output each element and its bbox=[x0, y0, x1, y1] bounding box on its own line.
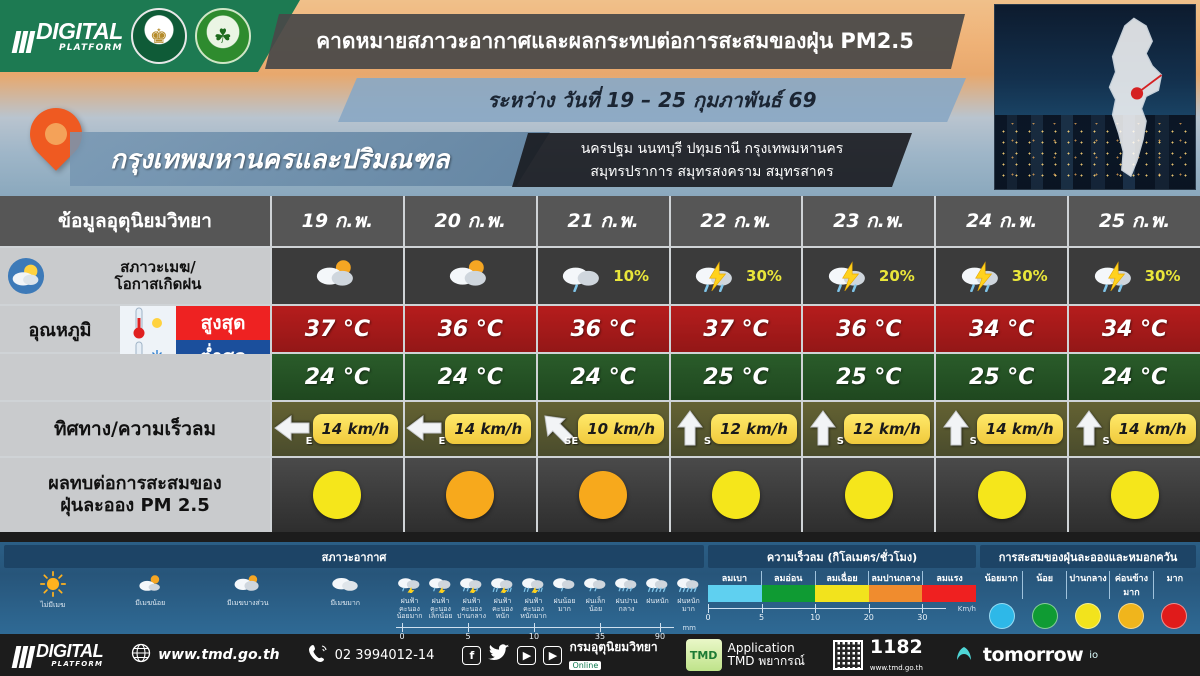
wind-direction-arrow-icon: E bbox=[277, 409, 311, 449]
pm-legend-name: ปานกลาง bbox=[1067, 571, 1110, 599]
sky-label-line2: โอกาสเกิดฝน bbox=[115, 275, 202, 293]
wind-direction-label: S bbox=[704, 436, 711, 447]
temp-max-cells: 37 °C36 °C36 °C37 °C36 °C34 °C34 °C bbox=[270, 306, 1200, 352]
region-banner: กรุงเทพมหานครและปริมณฑล bbox=[70, 132, 550, 186]
rain-heavy-icon bbox=[643, 571, 673, 597]
temp-min-value: 25 °C bbox=[703, 365, 768, 390]
wind-legend-title: ความเร็วลม (กิโลเมตร/ชั่วโมง) bbox=[708, 545, 976, 568]
footer-logo-bars-icon bbox=[14, 646, 33, 668]
sky-cell: 30% bbox=[934, 248, 1067, 304]
rain-legend-items: ฝนฟ้าคะนองน้อยมากฝนฟ้าคะนองเล็กน้อยฝนฟ้า… bbox=[394, 571, 704, 621]
wind-speed-value: 10 km/h bbox=[578, 414, 664, 444]
footer-website[interactable]: www.tmd.go.th bbox=[117, 634, 293, 676]
pm-level-dot bbox=[1111, 471, 1159, 519]
pm-label-line1: ผลทบต่อการสะสมของ bbox=[48, 473, 221, 494]
wind-cell: S14 km/h bbox=[1067, 402, 1200, 456]
wind-cell: E14 km/h bbox=[270, 402, 403, 456]
pm-cell bbox=[270, 458, 403, 532]
infographic-page: DIGITAL PLATFORM ♚ ☘ คาดหมายสภาวะอากาศแล… bbox=[0, 0, 1200, 676]
temp-min-cell: 24 °C bbox=[403, 354, 536, 400]
pm-legend-name: น้อยมาก bbox=[980, 571, 1023, 599]
pm-legend-name: ค่อนข้างมาก bbox=[1110, 571, 1153, 599]
legend-cloud-label: มีเมฆมาก bbox=[330, 600, 360, 608]
temp-max-value: 36 °C bbox=[570, 317, 635, 342]
footer-brand-name: DIGITAL bbox=[36, 642, 103, 660]
sky-cell: 30% bbox=[1067, 248, 1200, 304]
header-brand-band: DIGITAL PLATFORM ♚ ☘ bbox=[0, 0, 300, 72]
day-label: 22 ก.พ. bbox=[700, 206, 772, 236]
partly-cloudy-sun-icon bbox=[311, 256, 363, 296]
temp-max-cell: 36 °C bbox=[403, 306, 536, 352]
temp-max-row: อุณหภูมิ สูงสุด ต่ำสุด bbox=[0, 306, 1200, 354]
day-label: 20 ก.พ. bbox=[435, 206, 507, 236]
wind-scale-value: 10 bbox=[810, 613, 820, 622]
legend-cloud-item: มีเมฆมาก bbox=[297, 571, 395, 610]
wind-legend-name: ลมแรง bbox=[923, 571, 976, 585]
title-banner: คาดหมายสภาวะอากาศและผลกระทบต่อการสะสมของ… bbox=[265, 14, 965, 69]
wind-direction-label: E bbox=[306, 436, 313, 447]
wind-row-label: ทิศทาง/ความเร็วลม bbox=[54, 414, 216, 444]
social-play-icon[interactable]: ▶ bbox=[543, 646, 562, 665]
sky-cell bbox=[403, 248, 536, 304]
thunderstorm-icon bbox=[823, 256, 875, 296]
wind-direction-arrow-icon: S bbox=[941, 409, 975, 449]
weather-legend-title: สภาวะอากาศ bbox=[4, 545, 704, 568]
pm-cells bbox=[270, 458, 1200, 532]
legend-rain-item: ฝนเล็กน้อย bbox=[580, 571, 611, 621]
rain-probability: 30% bbox=[1012, 267, 1048, 285]
temp-min-cell: 25 °C bbox=[669, 354, 802, 400]
region-name: กรุงเทพมหานครและปริมณฑล bbox=[110, 139, 449, 180]
day-header-cells: 19 ก.พ.20 ก.พ.21 ก.พ.22 ก.พ.23 ก.พ.24 ก.… bbox=[270, 196, 1200, 246]
pm-legend-title: การสะสมของฝุ่นละอองและหมอกควัน bbox=[980, 545, 1196, 568]
storm-light2-icon bbox=[426, 571, 456, 597]
pm-legend-dot-wrap bbox=[1153, 603, 1196, 629]
temp-min-cell: 24 °C bbox=[536, 354, 669, 400]
wind-legend-name: ลมเบา bbox=[708, 571, 762, 585]
partly-cloudy-icon bbox=[231, 571, 265, 599]
legend-storm-item: ฝนฟ้าคะนองน้อยมาก bbox=[394, 571, 425, 621]
app-line-2: TMD พยากรณ์ bbox=[728, 654, 805, 668]
wind-legend-swatch bbox=[815, 585, 869, 602]
pm-legend-dot bbox=[1161, 603, 1187, 629]
pm-level-dot bbox=[712, 471, 760, 519]
wind-cell: SE10 km/h bbox=[536, 402, 669, 456]
forecast-table: ข้อมูลอุตุนิยมวิทยา 19 ก.พ.20 ก.พ.21 ก.พ… bbox=[0, 196, 1200, 542]
wind-cell: S12 km/h bbox=[669, 402, 802, 456]
footer-brand-sub: PLATFORM bbox=[36, 661, 103, 668]
wind-scale-value: 30 bbox=[917, 613, 927, 622]
temp-max-value: 36 °C bbox=[836, 317, 901, 342]
temp-label: อุณหภูมิ bbox=[0, 306, 120, 352]
temp-max-swatch: สูงสุด bbox=[120, 306, 270, 340]
temp-max-value: 37 °C bbox=[305, 317, 370, 342]
social-label: กรมอุตุนิยมวิทยา bbox=[569, 640, 657, 654]
rain-probability: 30% bbox=[746, 267, 782, 285]
pm-legend-dot-wrap bbox=[980, 603, 1023, 629]
wind-scale-value: 0 bbox=[705, 613, 710, 622]
wind-direction-label: S bbox=[837, 436, 844, 447]
wind-legend-names: ลมเบาลมอ่อนลมเฉื่อยลมปานกลางลมแรง bbox=[708, 571, 976, 585]
legend-cloud-item: มีเมฆบางส่วน bbox=[199, 571, 297, 610]
temp-max-value: 36 °C bbox=[438, 317, 503, 342]
tmd-app-icon: TMD bbox=[686, 639, 722, 671]
tomorrow-logo-icon bbox=[951, 640, 977, 670]
sky-cell: 20% bbox=[801, 248, 934, 304]
footer-phone: 02 3994012-14 bbox=[294, 634, 449, 676]
rain-probability: 30% bbox=[1145, 267, 1181, 285]
pm-level-dot bbox=[845, 471, 893, 519]
storm-mid-icon bbox=[457, 571, 487, 597]
brand-sub: PLATFORM bbox=[36, 44, 123, 53]
day-label: 19 ก.พ. bbox=[302, 206, 374, 236]
pm-row-label: ผลทบต่อการสะสมของ ฝุ่นละออง PM 2.5 bbox=[48, 473, 221, 516]
wind-scale-unit: Km/h bbox=[958, 605, 976, 613]
temp-max-cell: 37 °C bbox=[669, 306, 802, 352]
sun-cloud-small-icon bbox=[133, 571, 167, 599]
legend-cloud-item: ไม่มีเมฆ bbox=[4, 571, 102, 610]
rain-probability: 10% bbox=[613, 267, 649, 285]
temp-min-value: 25 °C bbox=[836, 365, 901, 390]
partner-suffix: io bbox=[1089, 650, 1098, 661]
legend-storm-label: ฝนฟ้าคะนองปานกลาง bbox=[456, 598, 487, 621]
facebook-icon[interactable]: f bbox=[462, 646, 481, 665]
temp-min-value: 24 °C bbox=[438, 365, 503, 390]
thunderstorm-icon bbox=[690, 256, 742, 296]
day-label: 25 ก.พ. bbox=[1099, 206, 1171, 236]
legend-rain-label: ฝนปานกลาง bbox=[611, 598, 642, 613]
footer-hotline: 1182 www.tmd.go.th bbox=[819, 634, 937, 676]
pm-level-dot bbox=[579, 471, 627, 519]
digital-platform-logo: DIGITAL PLATFORM bbox=[14, 20, 123, 53]
temp-max-cell: 37 °C bbox=[270, 306, 403, 352]
legend-cloud-label: ไม่มีเมฆ bbox=[40, 602, 65, 610]
sky-label-line1: สภาวะเมฆ/ bbox=[120, 258, 196, 276]
corner-label: ข้อมูลอุตุนิยมวิทยา bbox=[58, 206, 212, 236]
pm-legend-dot-wrap bbox=[1066, 603, 1109, 629]
rain-scale-unit: mm bbox=[682, 624, 696, 632]
legend-storm-label: ฝนฟ้าคะนองหนักมาก bbox=[518, 598, 549, 621]
pm-legend-name: มาก bbox=[1154, 571, 1196, 599]
wind-legend-bar bbox=[708, 585, 976, 602]
thunderstorm-icon bbox=[1089, 256, 1141, 296]
wind-cell: S14 km/h bbox=[934, 402, 1067, 456]
hotline-sub: www.tmd.go.th bbox=[870, 664, 923, 672]
day-label: 23 ก.พ. bbox=[833, 206, 905, 236]
pm-level-dot bbox=[446, 471, 494, 519]
sky-row-header: สภาวะเมฆ/ โอกาสเกิดฝน bbox=[0, 248, 270, 304]
table-header-row: ข้อมูลอุตุนิยมวิทยา 19 ก.พ.20 ก.พ.21 ก.พ… bbox=[0, 196, 1200, 248]
legend-rain-item: ฝนน้อยมาก bbox=[549, 571, 580, 621]
pm-label-line2: ฝุ่นละออง PM 2.5 bbox=[60, 495, 209, 516]
temp-row-header: อุณหภูมิ สูงสุด ต่ำสุด bbox=[0, 306, 270, 352]
sky-row: สภาวะเมฆ/ โอกาสเกิดฝน 10%30%20%30%30% bbox=[0, 248, 1200, 306]
temp-min-row: 24 °C24 °C24 °C25 °C25 °C25 °C24 °C bbox=[0, 354, 1200, 402]
legend-cloud-item: มีเมฆน้อย bbox=[102, 571, 200, 610]
provinces-banner: นครปฐม นนทบุรี ปทุมธานี กรุงเทพมหานคร สม… bbox=[512, 133, 912, 187]
pm-row-header: ผลทบต่อการสะสมของ ฝุ่นละออง PM 2.5 bbox=[0, 458, 270, 532]
legend-rain-item: ฝนหนักมาก bbox=[673, 571, 704, 621]
legend-storm-label: ฝนฟ้าคะนองน้อยมาก bbox=[394, 598, 425, 621]
temp-min-value: 24 °C bbox=[1102, 365, 1167, 390]
city-photo bbox=[994, 4, 1196, 190]
rain-probability: 20% bbox=[879, 267, 915, 285]
wind-legend-name: ลมอ่อน bbox=[762, 571, 816, 585]
wind-legend: ความเร็วลม (กิโลเมตร/ชั่วโมง) ลมเบาลมอ่อ… bbox=[708, 545, 976, 632]
wind-legend-swatch bbox=[708, 585, 762, 602]
phone-number: 02 3994012-14 bbox=[335, 648, 435, 663]
legend-rain-label: ฝนหนักมาก bbox=[673, 598, 704, 613]
sky-row-label: สภาวะเมฆ/ โอกาสเกิดฝน bbox=[52, 259, 270, 294]
website-url: www.tmd.go.th bbox=[158, 647, 279, 663]
wind-direction-arrow-icon: S bbox=[1074, 409, 1108, 449]
legend-storm-item: ฝนฟ้าคะนองหนักมาก bbox=[518, 571, 549, 621]
wind-direction-arrow-icon: SE bbox=[542, 409, 576, 449]
temp-min-value: 24 °C bbox=[305, 365, 370, 390]
temp-max-cell: 36 °C bbox=[801, 306, 934, 352]
pm-legend-names: น้อยมากน้อยปานกลางค่อนข้างมากมาก bbox=[980, 571, 1196, 599]
temp-min-value: 24 °C bbox=[570, 365, 635, 390]
day-header-cell: 23 ก.พ. bbox=[801, 196, 934, 246]
social-sub: Online bbox=[569, 661, 601, 670]
pm-cell bbox=[536, 458, 669, 532]
sky-icon bbox=[0, 257, 52, 295]
pm-legend-dot bbox=[1032, 603, 1058, 629]
sky-cell bbox=[270, 248, 403, 304]
sky-cell: 10% bbox=[536, 248, 669, 304]
legend-cloud-label: มีเมฆบางส่วน bbox=[227, 600, 269, 608]
hotline-number: 1182 bbox=[870, 636, 923, 658]
temp-min-value: 25 °C bbox=[969, 365, 1034, 390]
phone-icon bbox=[308, 643, 328, 667]
rain-light2-icon bbox=[581, 571, 611, 597]
tmd-seal-icon: ♚ bbox=[131, 8, 187, 64]
pm-cell bbox=[1067, 458, 1200, 532]
twitter-icon[interactable] bbox=[488, 644, 510, 666]
wind-direction-label: S bbox=[1102, 436, 1109, 447]
wind-speed-value: 14 km/h bbox=[977, 414, 1063, 444]
legend-rain-label: ฝนเล็กน้อย bbox=[580, 598, 611, 613]
wind-cell: E14 km/h bbox=[403, 402, 536, 456]
partner-name: tomorrow bbox=[983, 644, 1083, 666]
temp-min-cell: 24 °C bbox=[270, 354, 403, 400]
pm-legend: การสะสมของฝุ่นละอองและหมอกควัน น้อยมากน้… bbox=[980, 545, 1196, 632]
temp-max-cell: 34 °C bbox=[1067, 306, 1200, 352]
temp-max-label: สูงสุด bbox=[176, 306, 270, 340]
pm-cell bbox=[801, 458, 934, 532]
day-label: 24 ก.พ. bbox=[966, 206, 1038, 236]
logo-bars-icon bbox=[14, 31, 33, 53]
app-line-1: Application bbox=[728, 641, 795, 655]
header: DIGITAL PLATFORM ♚ ☘ คาดหมายสภาวะอากาศแล… bbox=[0, 0, 1200, 196]
footer-partner: tomorrow io bbox=[937, 634, 1112, 676]
youtube-icon[interactable]: ▶ bbox=[517, 646, 536, 665]
legend-rain-label: ฝนน้อยมาก bbox=[549, 598, 580, 613]
pm-legend-dot-wrap bbox=[1023, 603, 1066, 629]
sky-cell: 30% bbox=[669, 248, 802, 304]
footer-brand: DIGITAL PLATFORM bbox=[0, 634, 117, 676]
temp-min-cell: 25 °C bbox=[801, 354, 934, 400]
wind-speed-value: 14 km/h bbox=[1110, 414, 1196, 444]
day-header-cell: 22 ก.พ. bbox=[669, 196, 802, 246]
wind-direction-label: SE bbox=[564, 436, 578, 447]
footer-app[interactable]: TMD Application TMD พยากรณ์ bbox=[672, 634, 819, 676]
wind-speed-value: 14 km/h bbox=[313, 414, 399, 444]
wind-speed-value: 14 km/h bbox=[445, 414, 531, 444]
wind-cell: S12 km/h bbox=[801, 402, 934, 456]
temp-max-value: 34 °C bbox=[969, 317, 1034, 342]
wind-direction-label: S bbox=[970, 436, 977, 447]
wind-row: ทิศทาง/ความเร็วลม E14 km/hE14 km/hSE10 k… bbox=[0, 402, 1200, 458]
legend-storm-label: ฝนฟ้าคะนองเล็กน้อย bbox=[425, 598, 456, 621]
pm-level-dot bbox=[978, 471, 1026, 519]
storm-light-icon bbox=[395, 571, 425, 597]
legend-storm-item: ฝนฟ้าคะนองปานกลาง bbox=[456, 571, 487, 621]
legend-rain-item: ฝนหนัก bbox=[642, 571, 673, 621]
day-header-cell: 19 ก.พ. bbox=[270, 196, 403, 246]
wind-scale-value: 5 bbox=[759, 613, 764, 622]
day-header-cell: 24 ก.พ. bbox=[934, 196, 1067, 246]
legend-storm-item: ฝนฟ้าคะนองเล็กน้อย bbox=[425, 571, 456, 621]
partly-cloudy-sun-icon bbox=[444, 256, 496, 296]
pm-legend-name: น้อย bbox=[1023, 571, 1066, 599]
sun-icon bbox=[40, 571, 66, 601]
globe-icon bbox=[131, 643, 151, 667]
wind-direction-label: E bbox=[439, 436, 446, 447]
cloudy-icon bbox=[328, 571, 362, 599]
footer-social[interactable]: f ▶ ▶ กรมอุตุนิยมวิทยา Online bbox=[448, 634, 671, 676]
footer-bar: DIGITAL PLATFORM www.tmd.go.th 02 399401… bbox=[0, 634, 1200, 676]
day-header-cell: 21 ก.พ. bbox=[536, 196, 669, 246]
wind-legend-swatch bbox=[922, 585, 976, 602]
temp-max-cell: 34 °C bbox=[934, 306, 1067, 352]
pm-cell bbox=[934, 458, 1067, 532]
day-label: 21 ก.พ. bbox=[567, 206, 639, 236]
pm-legend-dot bbox=[989, 603, 1015, 629]
temp-min-row-header bbox=[0, 354, 270, 400]
pm-legend-dot bbox=[1118, 603, 1144, 629]
page-title: คาดหมายสภาวะอากาศและผลกระทบต่อการสะสมของ… bbox=[316, 25, 914, 58]
wind-direction-arrow-icon: S bbox=[808, 409, 842, 449]
wind-speed-value: 12 km/h bbox=[711, 414, 797, 444]
wind-legend-name: ลมเฉื่อย bbox=[816, 571, 870, 585]
wind-legend-swatch bbox=[869, 585, 923, 602]
pm-cell bbox=[669, 458, 802, 532]
ministry-seal-icon: ☘ bbox=[195, 8, 251, 64]
wind-speed-value: 12 km/h bbox=[844, 414, 930, 444]
wind-row-header: ทิศทาง/ความเร็วลม bbox=[0, 402, 270, 456]
legend-storm-label: ฝนฟ้าคะนองหนัก bbox=[487, 598, 518, 621]
sky-cells: 10%30%20%30%30% bbox=[270, 248, 1200, 304]
pm-row: ผลทบต่อการสะสมของ ฝุ่นละออง PM 2.5 bbox=[0, 458, 1200, 532]
thailand-map-icon bbox=[1091, 13, 1183, 183]
qr-code-icon bbox=[833, 640, 863, 670]
pm-level-dot bbox=[313, 471, 361, 519]
legend-bar: สภาวะอากาศ ไม่มีเมฆมีเมฆน้อยมีเมฆบางส่วน… bbox=[0, 542, 1200, 634]
thunderstorm-icon bbox=[956, 256, 1008, 296]
rain-veryheavy-icon bbox=[674, 571, 704, 597]
pm-legend-dots bbox=[980, 599, 1196, 629]
pm-legend-dot-wrap bbox=[1110, 603, 1153, 629]
wind-scale: 05102030Km/h bbox=[708, 602, 976, 618]
wind-direction-arrow-icon: E bbox=[409, 409, 443, 449]
day-header-cell: 25 ก.พ. bbox=[1067, 196, 1200, 246]
wind-cells: E14 km/hE14 km/hSE10 km/hS12 km/hS12 km/… bbox=[270, 402, 1200, 456]
date-banner: ระหว่าง วันที่ 19 – 25 กุมภาพันธ์ 69 bbox=[338, 78, 966, 122]
brand-name: DIGITAL bbox=[36, 20, 123, 43]
temp-max-value: 34 °C bbox=[1102, 317, 1167, 342]
wind-legend-swatch bbox=[762, 585, 816, 602]
temp-max-value: 37 °C bbox=[703, 317, 768, 342]
pm-legend-dot bbox=[1075, 603, 1101, 629]
legend-storm-item: ฝนฟ้าคะนองหนัก bbox=[487, 571, 518, 621]
wind-scale-value: 20 bbox=[864, 613, 874, 622]
provinces-line-2: สมุทรปราการ สมุทรสงคราม สมุทรสาคร bbox=[590, 161, 833, 183]
wind-legend-name: ลมปานกลาง bbox=[869, 571, 923, 585]
rain-cloud-icon bbox=[557, 256, 609, 296]
provinces-line-1: นครปฐม นนทบุรี ปทุมธานี กรุงเทพมหานคร bbox=[581, 138, 844, 160]
day-header-cell: 20 ก.พ. bbox=[403, 196, 536, 246]
legend-rain-item: ฝนปานกลาง bbox=[611, 571, 642, 621]
date-range: ระหว่าง วันที่ 19 – 25 กุมภาพันธ์ 69 bbox=[487, 84, 816, 116]
legend-rain-label: ฝนหนัก bbox=[646, 598, 669, 606]
table-corner-cell: ข้อมูลอุตุนิยมวิทยา bbox=[0, 196, 270, 246]
rain-light-icon bbox=[550, 571, 580, 597]
temp-min-cell: 24 °C bbox=[1067, 354, 1200, 400]
thermometer-hot-icon bbox=[120, 306, 176, 340]
temp-max-cell: 36 °C bbox=[536, 306, 669, 352]
storm-veryheavy-icon bbox=[519, 571, 549, 597]
legend-cloud-label: มีเมฆน้อย bbox=[135, 600, 165, 608]
cloud-legend-items: ไม่มีเมฆมีเมฆน้อยมีเมฆบางส่วนมีเมฆมาก bbox=[4, 571, 394, 610]
weather-legend: สภาวะอากาศ ไม่มีเมฆมีเมฆน้อยมีเมฆบางส่วน… bbox=[4, 545, 704, 632]
temp-min-cell: 25 °C bbox=[934, 354, 1067, 400]
rain-mid-icon bbox=[612, 571, 642, 597]
pm-cell bbox=[403, 458, 536, 532]
storm-heavy-icon bbox=[488, 571, 518, 597]
temp-min-cells: 24 °C24 °C24 °C25 °C25 °C25 °C24 °C bbox=[270, 354, 1200, 400]
wind-direction-arrow-icon: S bbox=[675, 409, 709, 449]
